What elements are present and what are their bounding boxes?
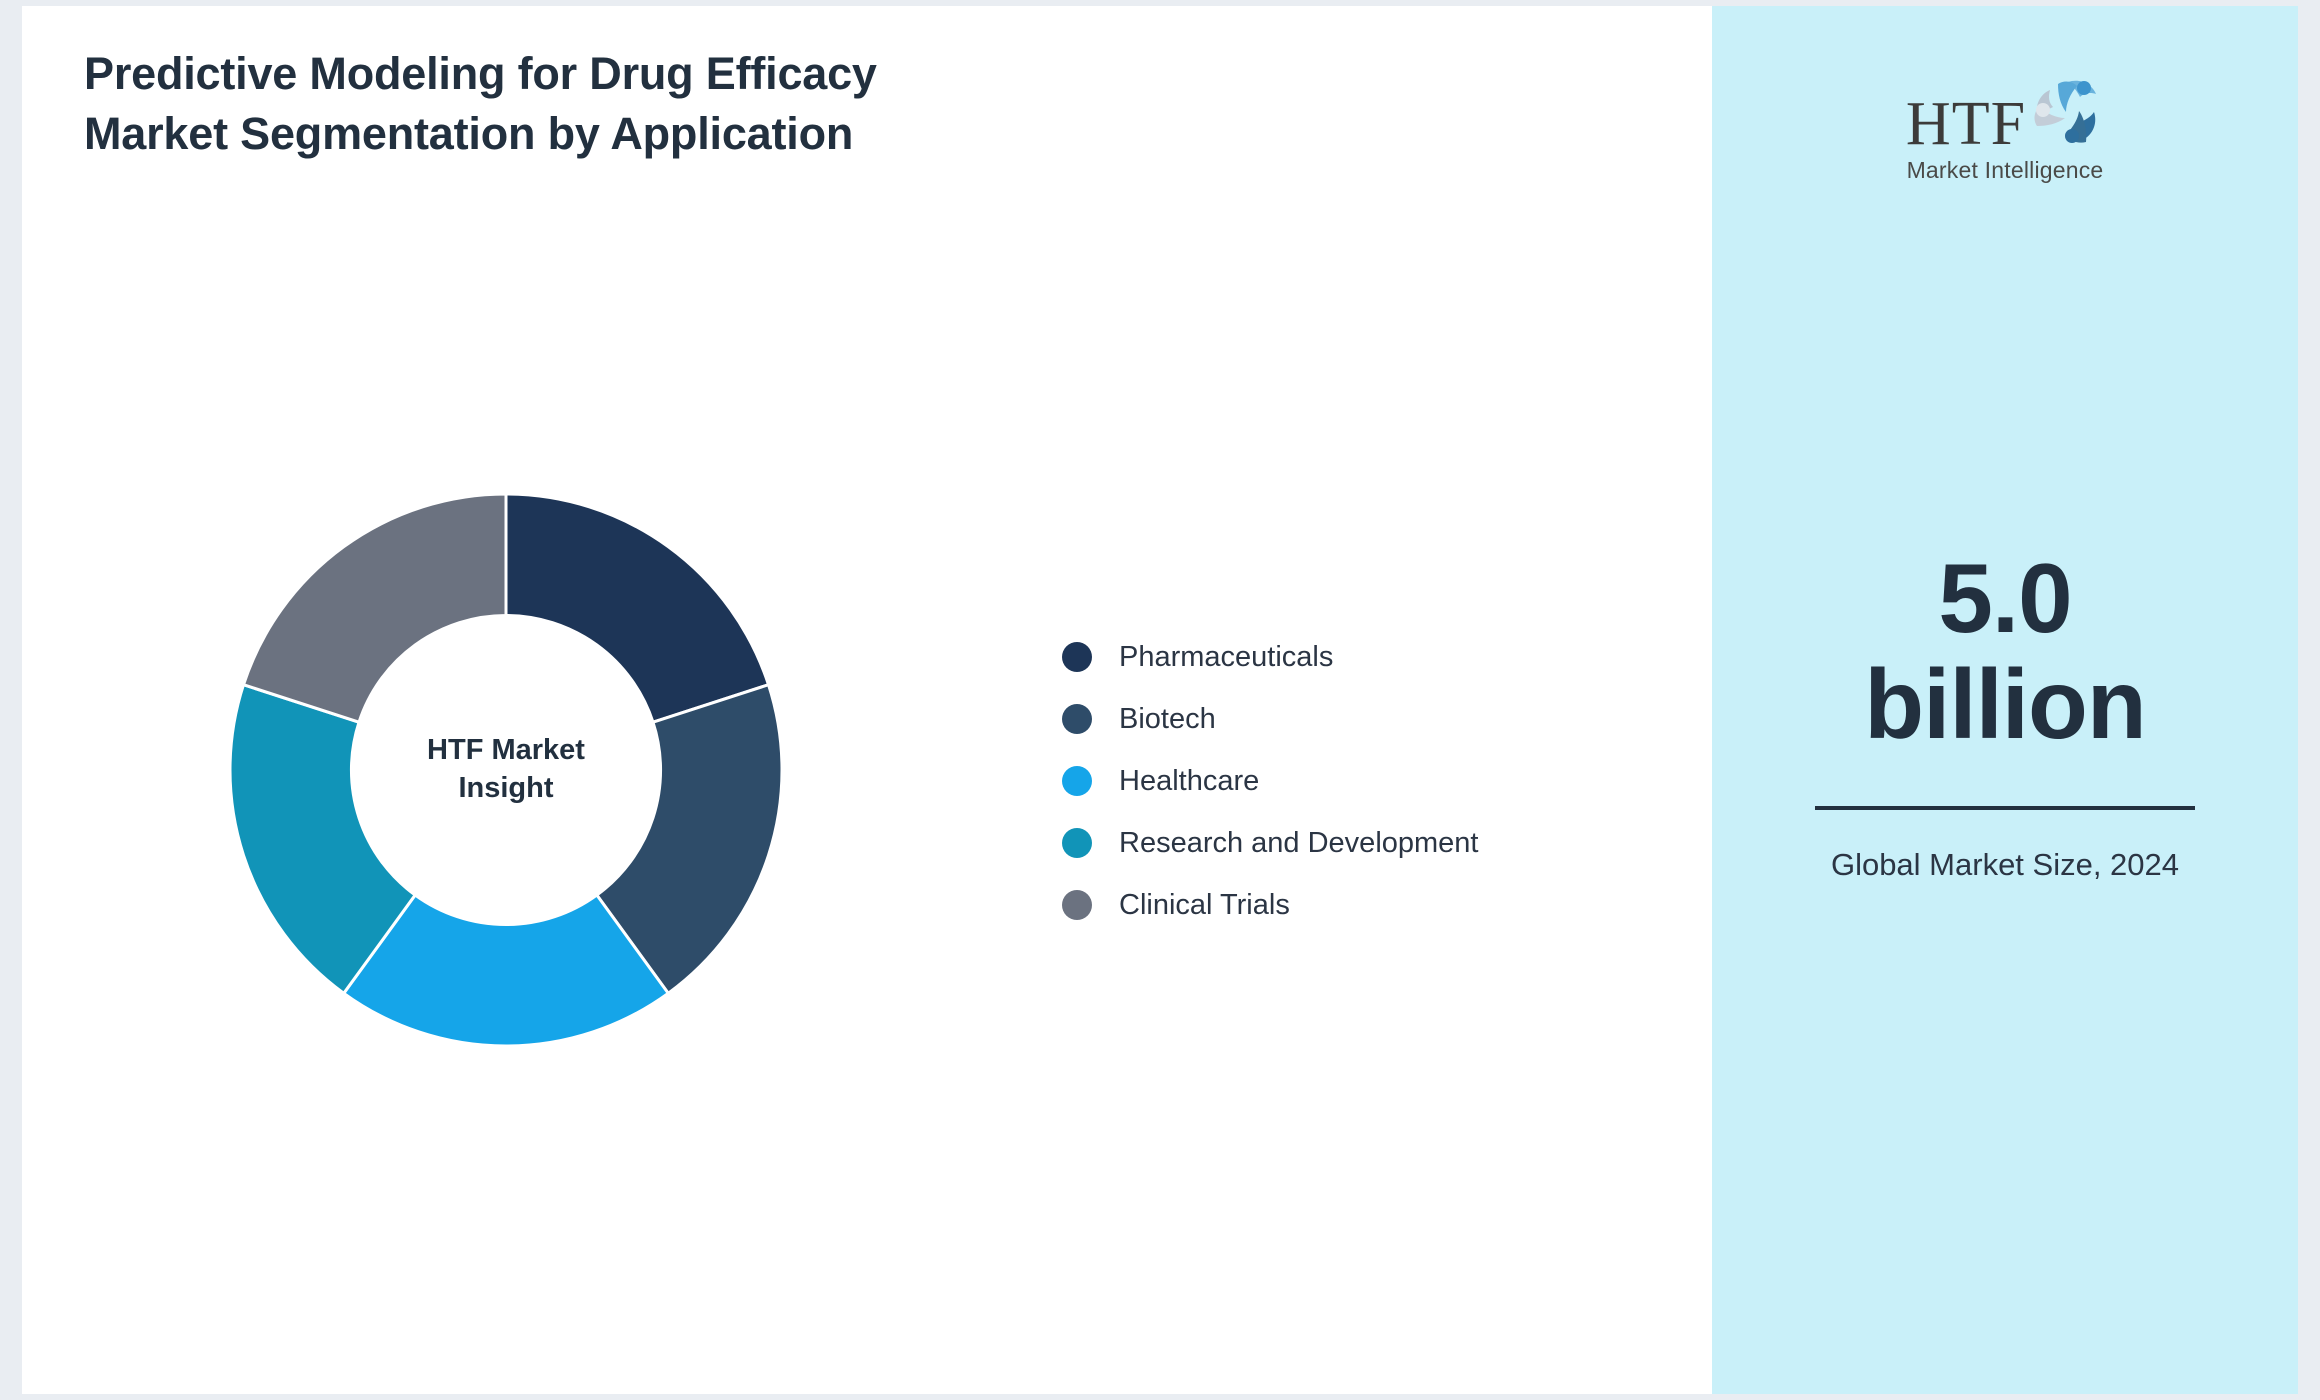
donut-slice[interactable] (244, 494, 506, 722)
infographic-card: Predictive Modeling for Drug Efficacy Ma… (22, 6, 2298, 1394)
chart-legend: PharmaceuticalsBiotechHealthcareResearch… (1062, 626, 1478, 936)
legend-item[interactable]: Biotech (1062, 688, 1478, 750)
legend-item-label: Pharmaceuticals (1119, 641, 1333, 674)
donut-chart-svg (230, 494, 782, 1046)
market-size-stat: 5.0 billion Global Market Size, 2024 (1712, 546, 2298, 886)
legend-item-label: Clinical Trials (1119, 889, 1290, 922)
logo-wordmark: HTF (1906, 96, 2026, 153)
legend-swatch-icon (1062, 890, 1092, 920)
chart-panel: Predictive Modeling for Drug Efficacy Ma… (22, 6, 1712, 1394)
htf-logo: HTF Market Intelligence (1712, 74, 2298, 184)
logo-subtitle: Market Intelligence (1907, 157, 2104, 184)
logo-mark-row: HTF (1906, 74, 2104, 153)
legend-item[interactable]: Clinical Trials (1062, 874, 1478, 936)
stat-value: 5.0 billion (1795, 546, 2215, 758)
donut-chart: HTF Market Insight (230, 494, 782, 1046)
legend-item[interactable]: Pharmaceuticals (1062, 626, 1478, 688)
stat-caption: Global Market Size, 2024 (1805, 844, 2205, 886)
stat-panel: HTF Market Intelligence (1712, 6, 2298, 1394)
donut-slice[interactable] (506, 494, 768, 722)
legend-swatch-icon (1062, 766, 1092, 796)
legend-item[interactable]: Healthcare (1062, 750, 1478, 812)
legend-item[interactable]: Research and Development (1062, 812, 1478, 874)
legend-swatch-icon (1062, 642, 1092, 672)
legend-item-label: Healthcare (1119, 765, 1259, 798)
legend-item-label: Biotech (1119, 703, 1216, 736)
people-swirl-icon (2028, 74, 2104, 151)
legend-swatch-icon (1062, 704, 1092, 734)
page-title: Predictive Modeling for Drug Efficacy Ma… (84, 44, 1004, 164)
legend-item-label: Research and Development (1119, 827, 1478, 860)
stat-divider (1815, 806, 2195, 810)
legend-swatch-icon (1062, 828, 1092, 858)
